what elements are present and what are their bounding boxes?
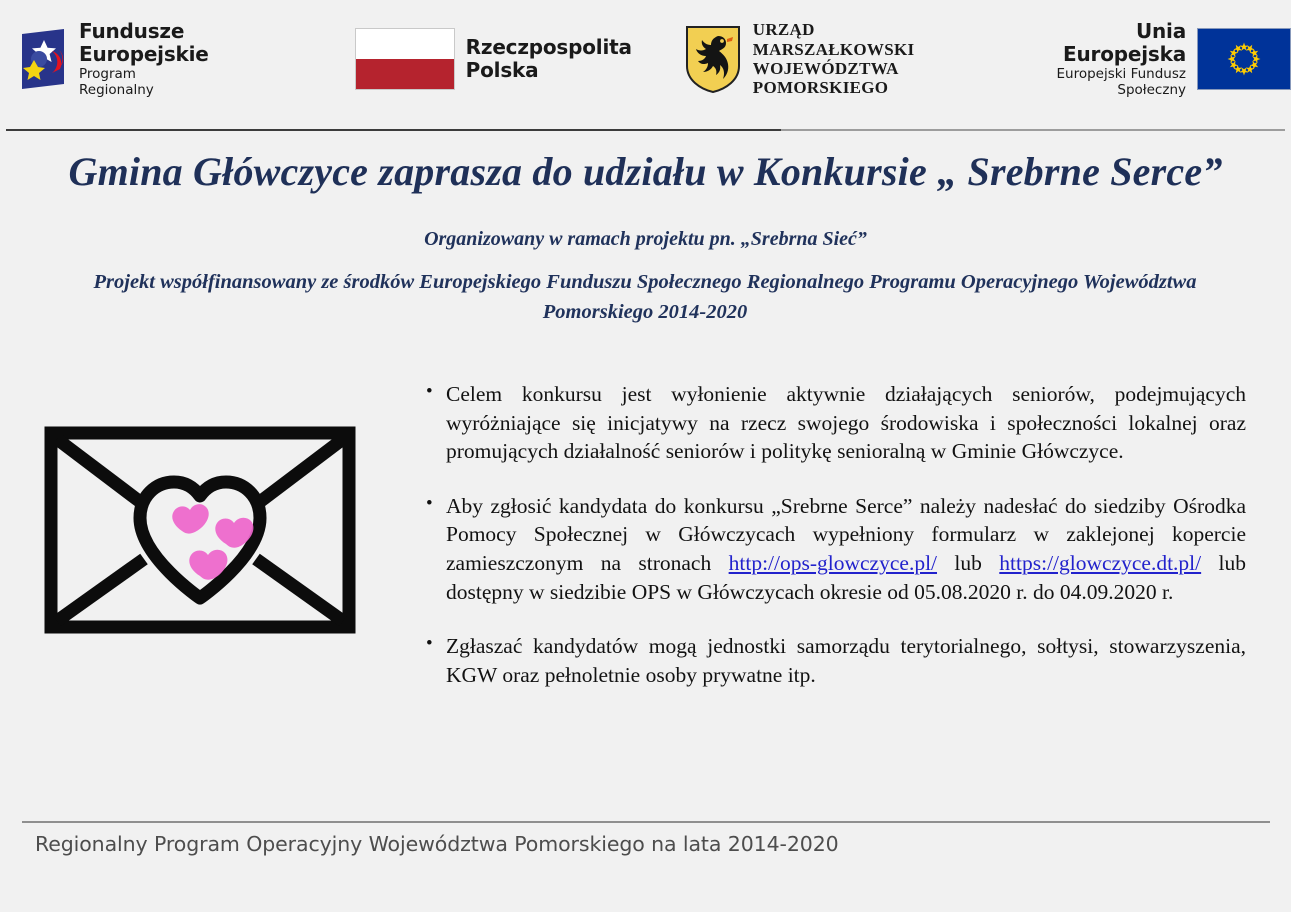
logo-unia-europejska: Unia Europejska Europejski Fundusz Społe… — [1042, 20, 1291, 98]
european-union-flag — [1197, 28, 1291, 90]
header-logo-bar: Fundusze Europejskie Program Regionalny … — [0, 0, 1291, 118]
polish-flag — [355, 28, 455, 90]
logo-line-1: Fundusze — [79, 20, 209, 43]
footer-text: Regionalny Program Operacyjny Województw… — [35, 832, 839, 856]
footer-divider — [22, 821, 1270, 823]
list-item-zgloszenie-kandydata: Aby zgłosić kandydata do konkursu „Srebr… — [426, 492, 1246, 606]
bullet-text-part-2: lub — [937, 551, 999, 575]
logo-line-3: Program Regionalny — [79, 67, 209, 98]
logo-line-1: Rzeczpospolita — [466, 36, 632, 59]
list-item-cel-konkursu: Celem konkursu jest wyłonienie aktywnie … — [426, 380, 1246, 466]
funding-statement: Projekt współfinansowany ze środków Euro… — [55, 268, 1235, 327]
fundusze-europejskie-stars-logo — [14, 26, 68, 92]
logo-line-2: WOJEWÓDZTWA POMORSKIEGO — [753, 59, 971, 98]
bullet-text-column: Celem konkursu jest wyłonienie aktywnie … — [400, 380, 1291, 689]
list-item-kto-moze-zglaszac: Zgłaszać kandydatów mogą jednostki samor… — [426, 632, 1246, 689]
illustration-column — [0, 380, 400, 634]
header-divider — [6, 129, 1285, 131]
logo-unia-europejska-text: Unia Europejska Europejski Fundusz Społe… — [1042, 20, 1186, 98]
bullet-list: Celem konkursu jest wyłonienie aktywnie … — [400, 380, 1246, 689]
logo-line-2: Europejskie — [79, 43, 209, 66]
logo-rzeczpospolita-polska: Rzeczpospolita Polska — [355, 28, 632, 90]
page-subtitle: Organizowany w ramach projektu pn. „Sreb… — [0, 228, 1291, 251]
logo-line-2: Polska — [466, 59, 632, 82]
logo-fundusze-europejskie-text: Fundusze Europejskie Program Regionalny — [79, 20, 209, 98]
page-title: Gmina Główczyce zaprasza do udziału w Ko… — [0, 148, 1291, 195]
link-glowczyce-dt[interactable]: https://glowczyce.dt.pl/ — [999, 551, 1201, 575]
logo-urzad-marszalkowski-text: URZĄD MARSZAŁKOWSKI WOJEWÓDZTWA POMORSKI… — [753, 20, 971, 98]
logo-line-1: Unia Europejska — [1042, 20, 1186, 66]
envelope-with-hearts-icon — [44, 426, 356, 634]
logo-rzeczpospolita-polska-text: Rzeczpospolita Polska — [466, 36, 632, 82]
link-ops-glowczyce[interactable]: http://ops-glowczyce.pl/ — [729, 551, 937, 575]
logo-urzad-marszalkowski: URZĄD MARSZAŁKOWSKI WOJEWÓDZTWA POMORSKI… — [684, 20, 971, 98]
logo-fundusze-europejskie: Fundusze Europejskie Program Regionalny — [14, 20, 209, 98]
content-area: Celem konkursu jest wyłonienie aktywnie … — [0, 380, 1291, 689]
logo-line-3: Europejski Fundusz Społeczny — [1042, 67, 1186, 98]
logo-line-1: URZĄD MARSZAŁKOWSKI — [753, 20, 971, 59]
pomorskie-griffin-coat-of-arms — [684, 24, 742, 94]
